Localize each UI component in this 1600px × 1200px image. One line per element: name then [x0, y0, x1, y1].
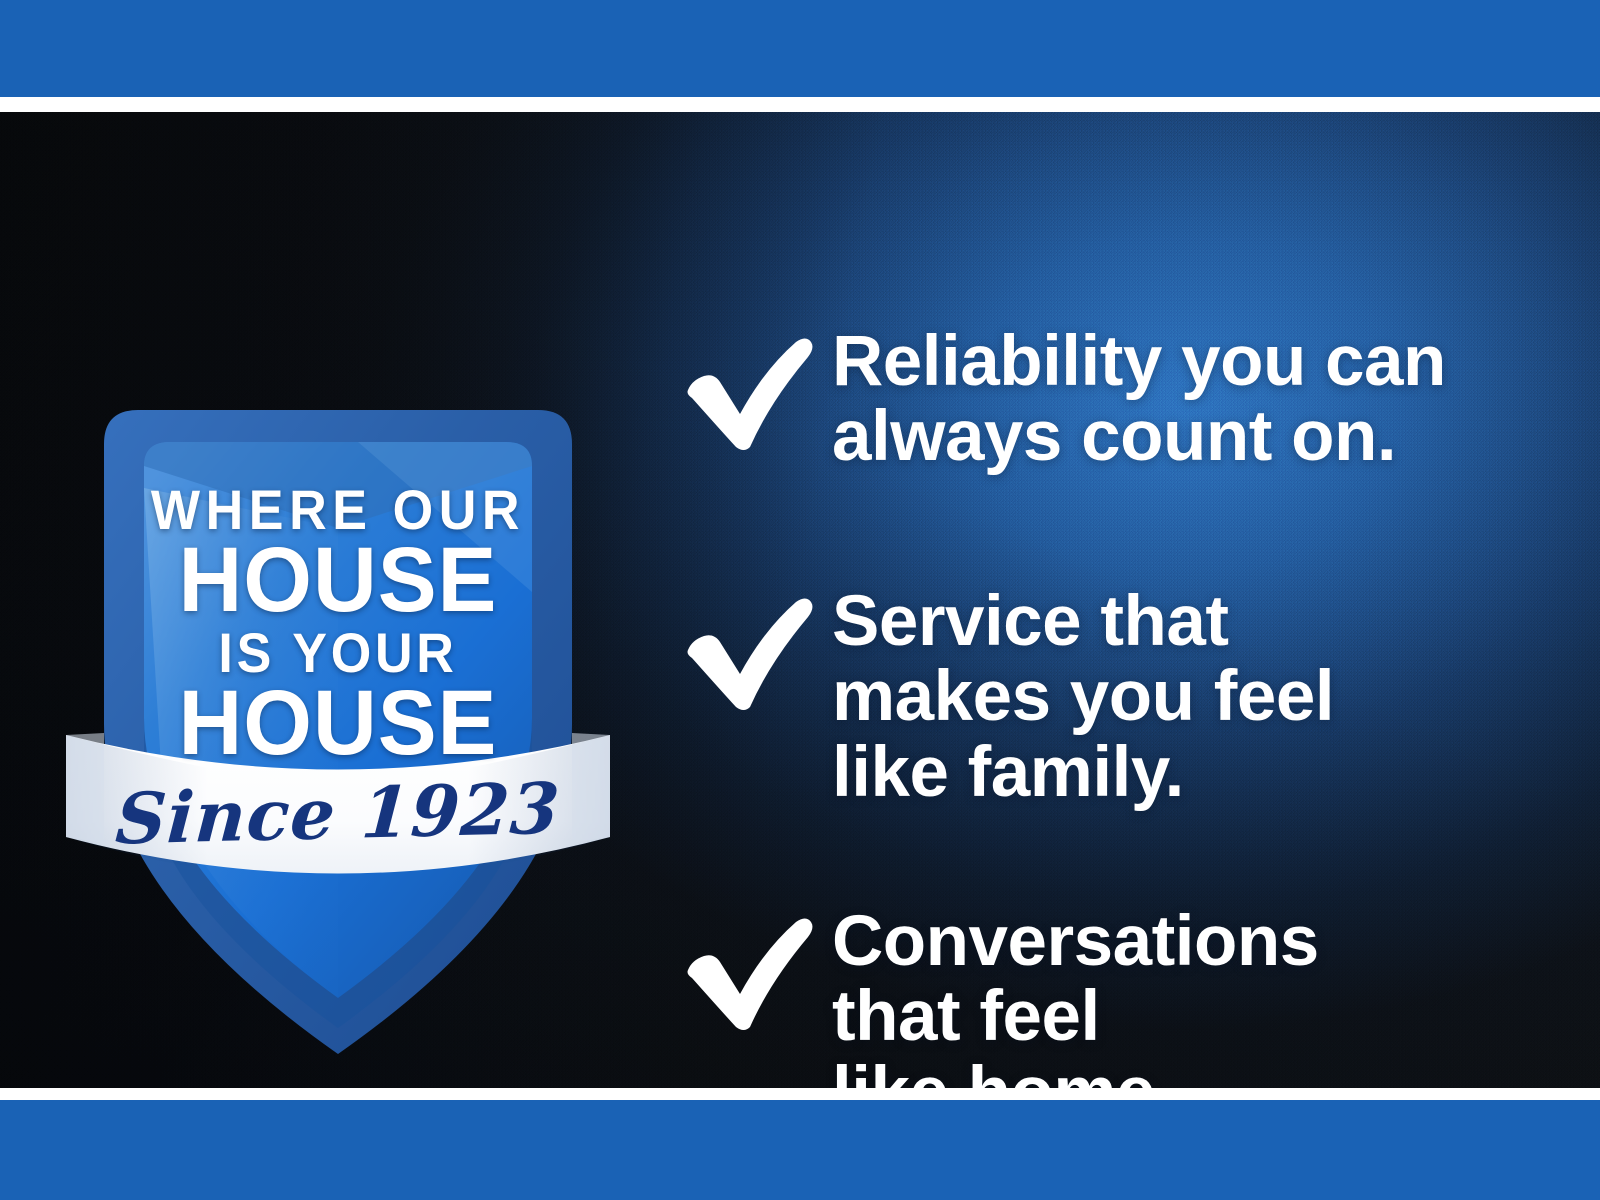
- check-icon: [678, 912, 818, 1032]
- shield-emblem: WHERE OUR HOUSE IS YOUR HOUSE Since 1923: [58, 292, 618, 1082]
- promo-graphic: WHERE OUR HOUSE IS YOUR HOUSE Since 1923…: [0, 0, 1600, 1200]
- benefits-list: Reliability you can always count on. Ser…: [670, 224, 1530, 1088]
- emblem-line-4: HOUSE: [69, 677, 607, 769]
- check-icon: [678, 592, 818, 712]
- list-item-label: Conversations that feel like home.: [832, 904, 1532, 1088]
- list-item-label: Reliability you can always count on.: [832, 324, 1532, 475]
- top-brand-bar: [0, 0, 1600, 97]
- bottom-brand-bar: [0, 1100, 1600, 1200]
- main-panel: WHERE OUR HOUSE IS YOUR HOUSE Since 1923…: [0, 112, 1600, 1088]
- ribbon-since-text: Since 1923: [56, 772, 620, 856]
- emblem-line-2: HOUSE: [69, 534, 607, 626]
- check-icon: [678, 332, 818, 452]
- list-item-label: Service that makes you feel like family.: [832, 584, 1532, 810]
